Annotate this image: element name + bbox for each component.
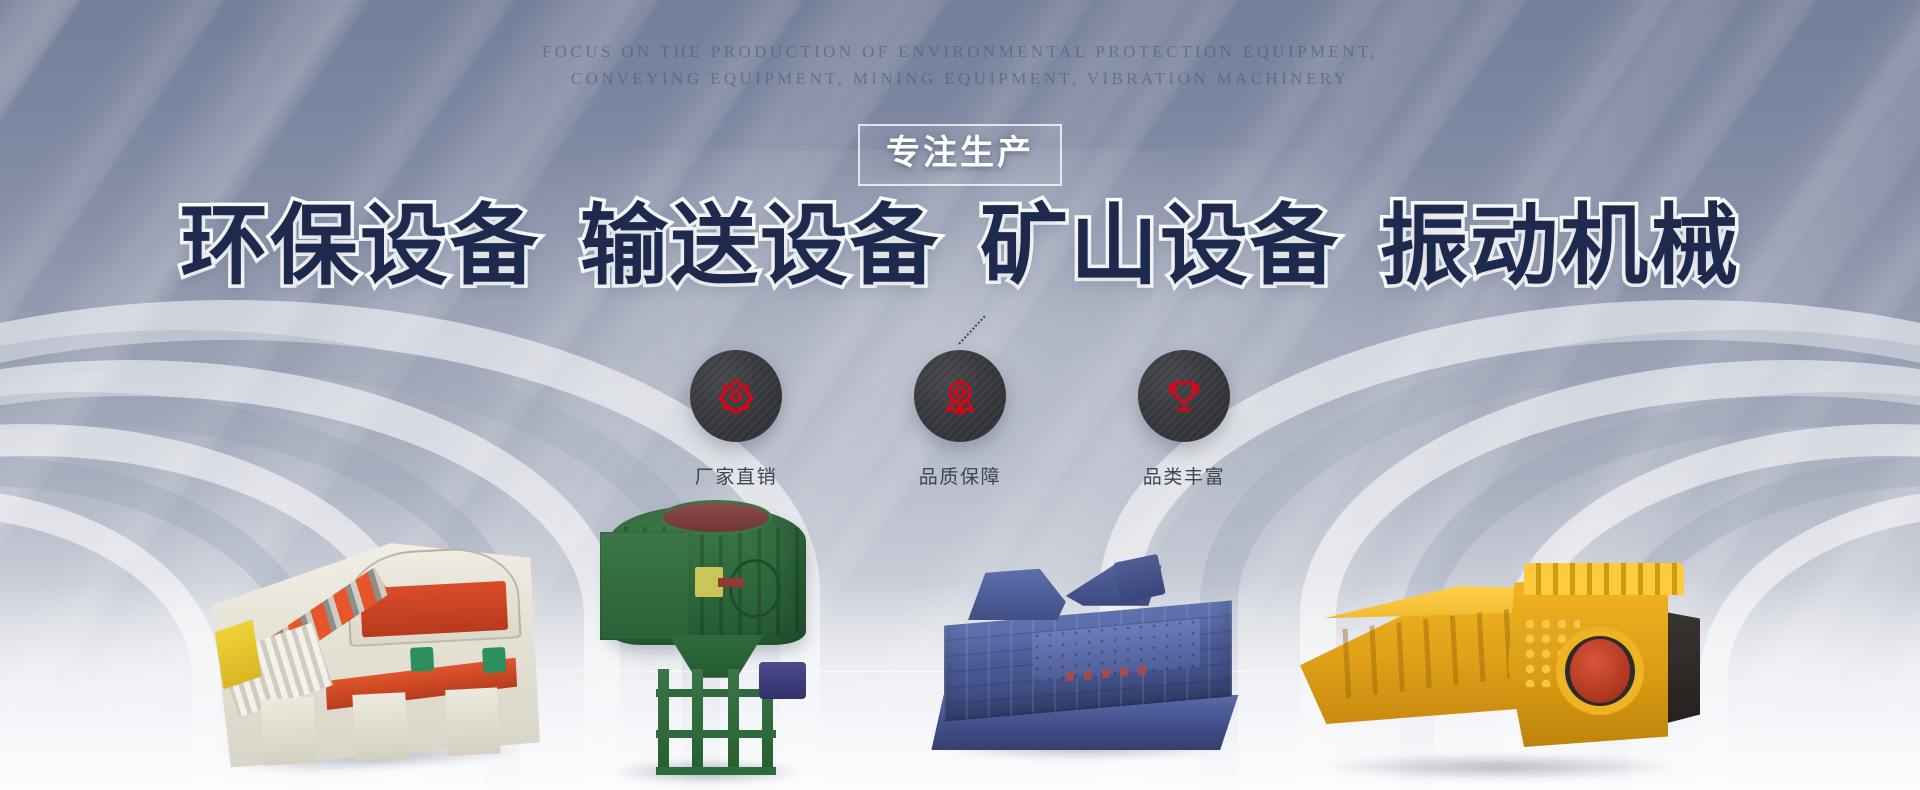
feature-label-quality: 品质保障 (884, 462, 1036, 489)
diagonal-tick-icon (955, 312, 991, 348)
feature-label-factory-direct: 厂家直销 (660, 462, 812, 489)
headline-part-2: 输送设备 (580, 196, 940, 295)
feature-badges: 厂家直销 品质保障 (0, 350, 1920, 489)
gear-icon (690, 350, 782, 442)
feature-item-quality[interactable]: 品质保障 (884, 350, 1036, 489)
trophy-icon (1138, 350, 1230, 442)
feature-label-variety: 品类丰富 (1108, 462, 1260, 489)
feature-item-factory-direct[interactable]: 厂家直销 (660, 350, 812, 489)
headline-part-4: 振动机械 (1380, 196, 1740, 295)
banner-content: FOCUS ON THE PRODUCTION OF ENVIRONMENTAL… (0, 0, 1920, 790)
eyebrow-tagline: FOCUS ON THE PRODUCTION OF ENVIRONMENTAL… (0, 38, 1920, 92)
page-title: 环保设备输送设备矿山设备振动机械 (0, 195, 1920, 297)
badge-container: 专注生产 (0, 124, 1920, 186)
medal-icon (914, 350, 1006, 442)
feature-item-variety[interactable]: 品类丰富 (1108, 350, 1260, 489)
headline-part-3: 矿山设备 (980, 196, 1340, 295)
hero-banner: FOCUS ON THE PRODUCTION OF ENVIRONMENTAL… (0, 0, 1920, 790)
focus-production-badge: 专注生产 (858, 124, 1062, 186)
headline-part-1: 环保设备 (180, 196, 540, 295)
